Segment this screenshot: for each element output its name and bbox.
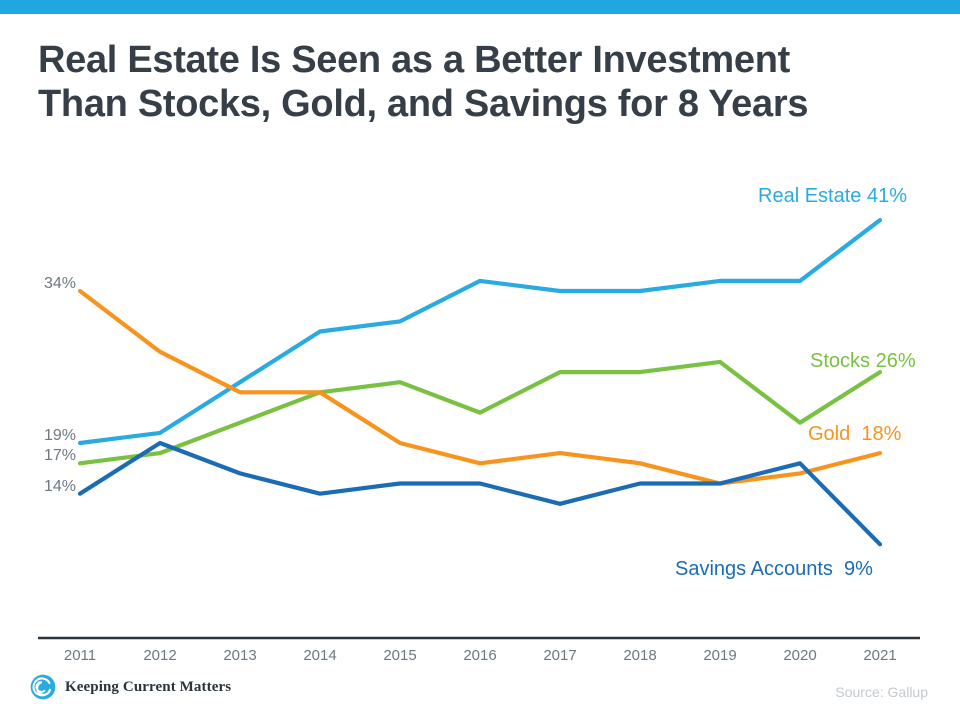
series-line-real-estate <box>80 220 880 443</box>
kcm-spiral-icon <box>30 674 56 700</box>
x-tick-label-2012: 2012 <box>130 647 190 664</box>
x-tick-label-2018: 2018 <box>610 647 670 664</box>
x-tick-label-2016: 2016 <box>450 647 510 664</box>
series-line-stocks <box>80 362 880 463</box>
y-start-label-savings-accounts: 14% <box>44 478 76 496</box>
series-line-gold <box>80 291 880 484</box>
series-group <box>80 220 880 544</box>
y-start-label-real-estate: 19% <box>44 427 76 445</box>
end-label-gold: Gold 18% <box>808 423 901 446</box>
x-tick-label-2020: 2020 <box>770 647 830 664</box>
x-tick-label-2014: 2014 <box>290 647 350 664</box>
x-tick-label-2013: 2013 <box>210 647 270 664</box>
x-tick-label-2021: 2021 <box>850 647 910 664</box>
slide-canvas: Real Estate Is Seen as a Better Investme… <box>0 0 960 720</box>
brand-name: Keeping Current Matters <box>65 679 231 696</box>
series-line-savings-accounts <box>80 443 880 544</box>
end-label-stocks: Stocks 26% <box>810 350 916 373</box>
x-tick-label-2015: 2015 <box>370 647 430 664</box>
end-label-real-estate: Real Estate 41% <box>758 185 907 208</box>
x-tick-label-2017: 2017 <box>530 647 590 664</box>
y-start-label-stocks: 17% <box>44 447 76 465</box>
x-tick-label-2019: 2019 <box>690 647 750 664</box>
y-start-label-gold: 34% <box>44 275 76 293</box>
line-chart: 19%17%34%14% 201120122013201420152016201… <box>0 0 960 720</box>
end-label-savings-accounts: Savings Accounts 9% <box>675 558 873 581</box>
x-tick-label-2011: 2011 <box>50 647 110 664</box>
source-note: Source: Gallup <box>835 684 928 700</box>
brand-logo: Keeping Current Matters <box>30 674 231 700</box>
